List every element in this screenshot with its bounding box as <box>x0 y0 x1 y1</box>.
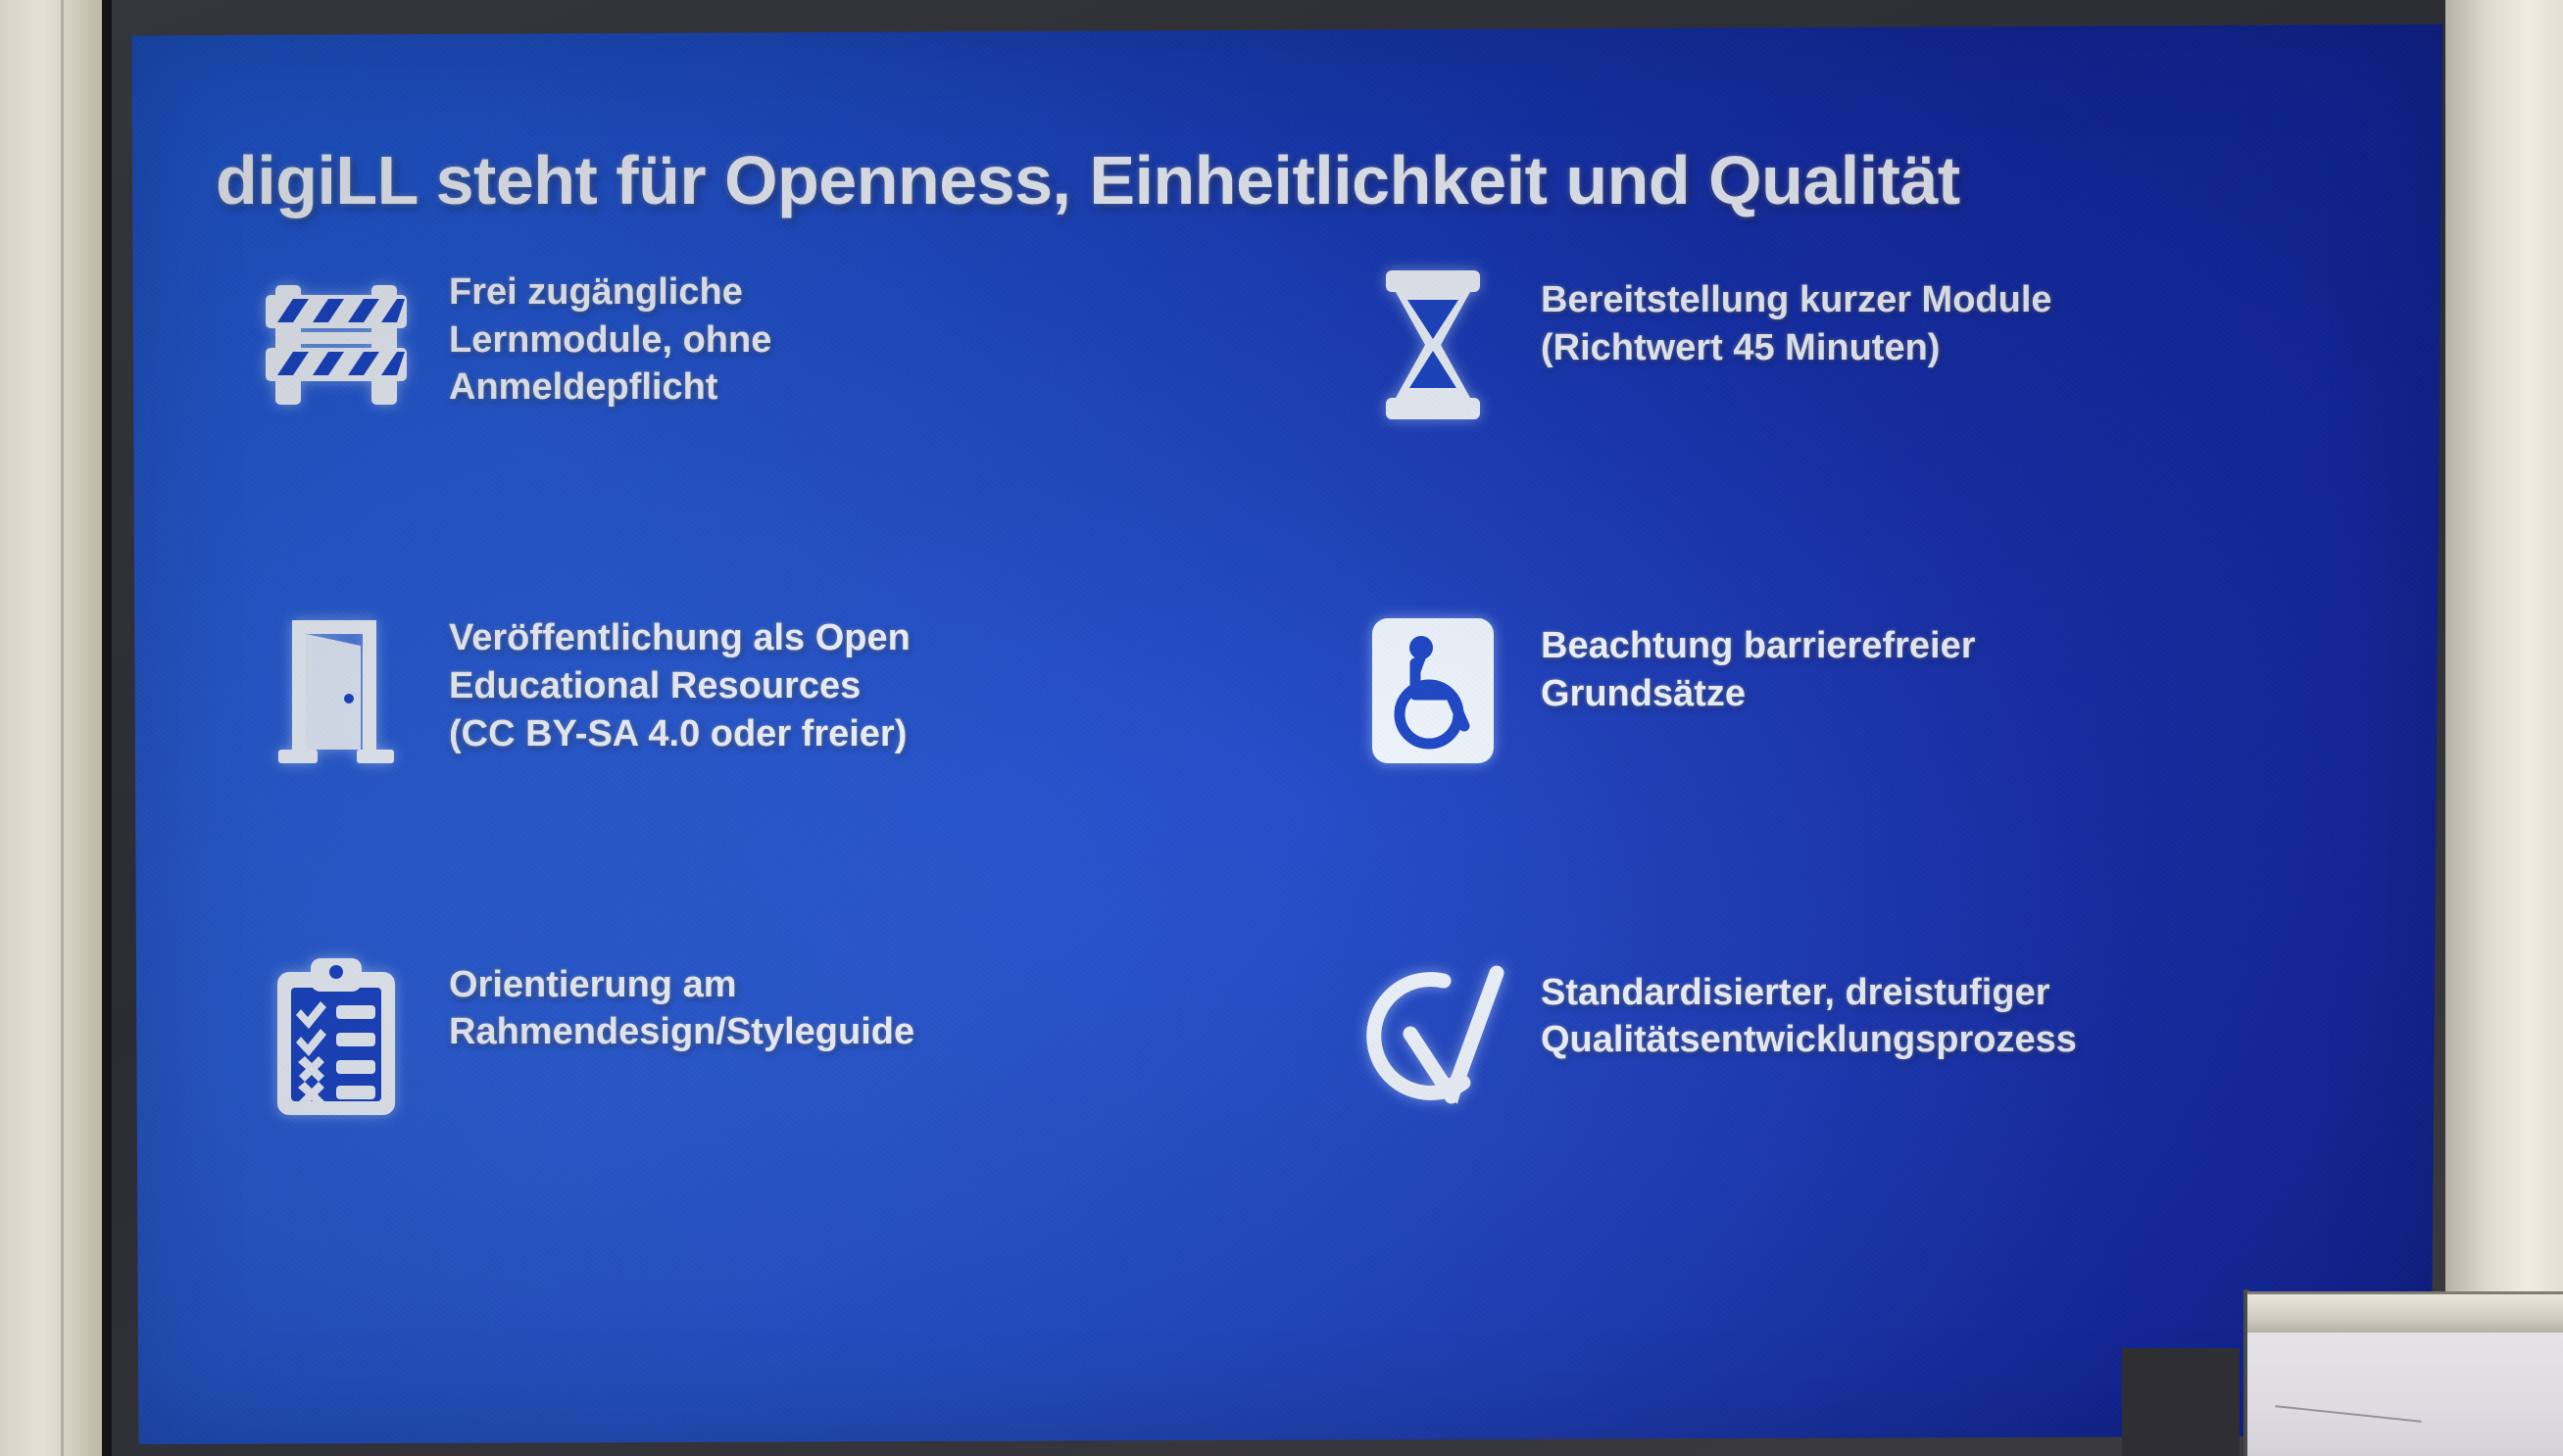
screen-bezel-left-edge <box>102 0 112 1456</box>
slide-item-text: Frei zugängliche Lernmodule, ohne Anmeld… <box>449 247 771 412</box>
open-door-icon <box>223 593 449 789</box>
checkmark-cycle-icon <box>1325 940 1541 1136</box>
text-line: (Richtwert 45 Minuten) <box>1541 324 2052 372</box>
text-line: Educational Resources <box>449 662 911 710</box>
text-line: Standardisierter, dreistufiger <box>1541 969 2077 1017</box>
slide-item-text: Veröffentlichung als Open Educational Re… <box>449 593 911 757</box>
left-wall <box>0 0 106 1456</box>
slide-item-text: Beachtung barrierefreier Grundsätze <box>1541 593 1976 717</box>
text-line: (CC BY-SA 4.0 oder freier) <box>449 710 911 758</box>
wheelchair-accessibility-icon <box>1325 593 1541 789</box>
slide-title: digiLL steht für Openness, Einheitlichke… <box>216 141 2274 219</box>
clipboard-checklist-icon <box>223 940 449 1136</box>
slide-item-barrierefreiheit: Beachtung barrierefreier Grundsätze <box>1325 593 2409 939</box>
wall-seam <box>61 0 64 1456</box>
lower-dark-strip <box>2122 1348 2240 1456</box>
text-line: Qualitätsentwicklungsprozess <box>1541 1016 2077 1064</box>
presentation-slide: digiLL steht für Openness, Einheitlichke… <box>129 22 2442 1444</box>
right-wall <box>2445 0 2563 1456</box>
flipchart-paper <box>2247 1333 2563 1456</box>
slide-item-text: Orientierung am Rahmendesign/Styleguide <box>449 940 914 1056</box>
flipchart-crease <box>2275 1405 2421 1423</box>
flipchart-foreground <box>2240 1282 2563 1456</box>
text-line: Veröffentlichung als Open <box>449 614 911 662</box>
projection-screen: digiLL steht für Openness, Einheitlichke… <box>129 22 2442 1444</box>
text-line: Rahmendesign/Styleguide <box>449 1008 914 1056</box>
slide-item-frei-zugaengliche-lernmodule: Frei zugängliche Lernmodule, ohne Anmeld… <box>223 247 1307 593</box>
slide-item-bereitstellung-kurzer-module: Bereitstellung kurzer Module (Richtwert … <box>1325 247 2409 593</box>
bullet-grid: Frei zugängliche Lernmodule, ohne Anmeld… <box>223 247 2409 1286</box>
slide-item-orientierung-styleguide: Orientierung am Rahmendesign/Styleguide <box>223 940 1307 1286</box>
hourglass-icon <box>1325 247 1541 443</box>
text-line: Lernmodule, ohne <box>449 316 771 364</box>
slide-item-text: Standardisierter, dreistufiger Qualitäts… <box>1541 940 2077 1064</box>
slide-item-text: Bereitstellung kurzer Module (Richtwert … <box>1541 247 2052 371</box>
slide-item-veroeffentlichung-oer: Veröffentlichung als Open Educational Re… <box>223 593 1307 939</box>
slide-item-qualitaetsentwicklungsprozess: Standardisierter, dreistufiger Qualitäts… <box>1325 940 2409 1286</box>
room-background: digiLL steht für Openness, Einheitlichke… <box>0 0 2563 1456</box>
text-line: Bereitstellung kurzer Module <box>1541 276 2052 324</box>
flipchart-rail <box>2247 1291 2563 1337</box>
road-barrier-icon <box>223 247 449 443</box>
text-line: Anmeldepflicht <box>449 364 771 412</box>
text-line: Beachtung barrierefreier <box>1541 622 1976 670</box>
text-line: Frei zugängliche <box>449 268 771 316</box>
text-line: Orientierung am <box>449 961 914 1009</box>
text-line: Grundsätze <box>1541 670 1976 718</box>
